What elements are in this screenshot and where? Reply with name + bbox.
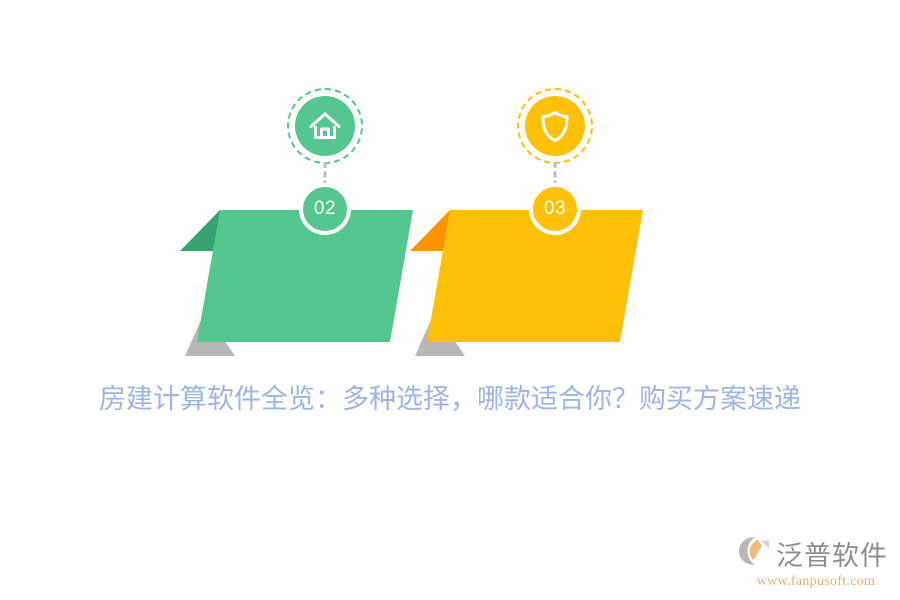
watermark: 泛普软件 www.fanpusoft.com: [738, 534, 888, 590]
ribbon-face-02: [197, 210, 413, 342]
step-card-03[interactable]: 03: [405, 0, 705, 360]
watermark-brand: 泛普软件: [776, 534, 888, 573]
home-icon: [295, 96, 355, 156]
step-number-03: 03: [544, 198, 566, 220]
step-badge-02[interactable]: 02: [299, 183, 351, 235]
steps-stage: 02: [0, 0, 900, 360]
watermark-brand-row: 泛普软件: [738, 534, 888, 573]
step-badge-03[interactable]: 03: [529, 183, 581, 235]
ribbon-face-03: [427, 210, 643, 342]
watermark-url: www.fanpusoft.com: [751, 574, 876, 590]
fanpu-swoosh-logo-icon: [738, 536, 772, 571]
step-medallion-03[interactable]: [517, 88, 593, 164]
page-title: 房建计算软件全览：多种选择，哪款适合你？购买方案速递: [0, 374, 900, 424]
step-number-02: 02: [314, 198, 336, 220]
shield-icon: [525, 96, 585, 156]
infographic-canvas: 02: [0, 0, 900, 600]
step-medallion-02[interactable]: [287, 88, 363, 164]
